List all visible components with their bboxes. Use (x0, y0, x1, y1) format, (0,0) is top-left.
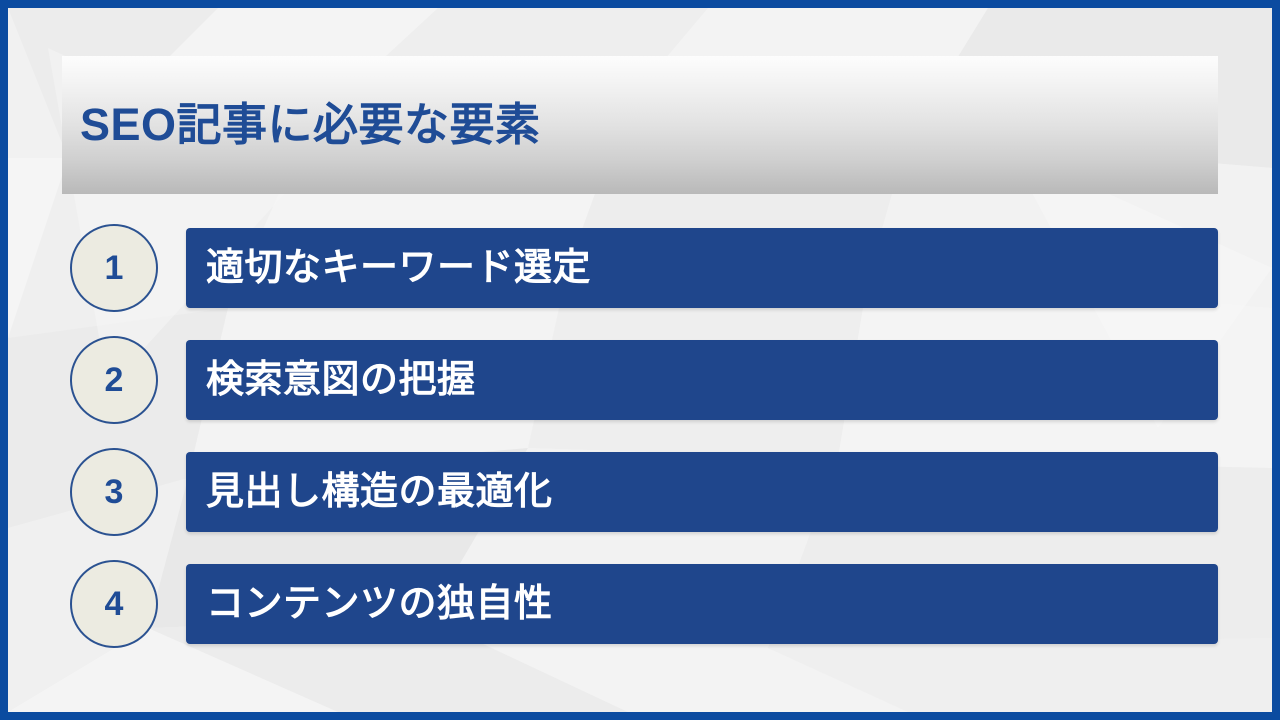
slide-frame: SEO記事に必要な要素 1 適切なキーワード選定 2 検索意図の把握 3 見出し… (0, 0, 1280, 720)
list-item: 1 適切なキーワード選定 (62, 228, 1218, 308)
item-label: 適切なキーワード選定 (206, 249, 591, 287)
slide-canvas: SEO記事に必要な要素 1 適切なキーワード選定 2 検索意図の把握 3 見出し… (8, 8, 1272, 712)
item-label: 検索意図の把握 (206, 361, 476, 399)
item-label: コンテンツの独自性 (206, 585, 553, 623)
item-bar: 検索意図の把握 (186, 340, 1218, 420)
list-item: 2 検索意図の把握 (62, 340, 1218, 420)
item-number-badge: 4 (70, 560, 158, 648)
item-number-badge: 3 (70, 448, 158, 536)
item-label: 見出し構造の最適化 (206, 473, 553, 511)
item-bar: 見出し構造の最適化 (186, 452, 1218, 532)
list-item: 3 見出し構造の最適化 (62, 452, 1218, 532)
item-number-badge: 2 (70, 336, 158, 424)
item-number-badge: 1 (70, 224, 158, 312)
item-list: 1 適切なキーワード選定 2 検索意図の把握 3 見出し構造の最適化 4 (62, 228, 1218, 644)
title-bar: SEO記事に必要な要素 (62, 56, 1218, 194)
list-item: 4 コンテンツの独自性 (62, 564, 1218, 644)
page-title: SEO記事に必要な要素 (80, 100, 541, 150)
item-bar: コンテンツの独自性 (186, 564, 1218, 644)
item-bar: 適切なキーワード選定 (186, 228, 1218, 308)
